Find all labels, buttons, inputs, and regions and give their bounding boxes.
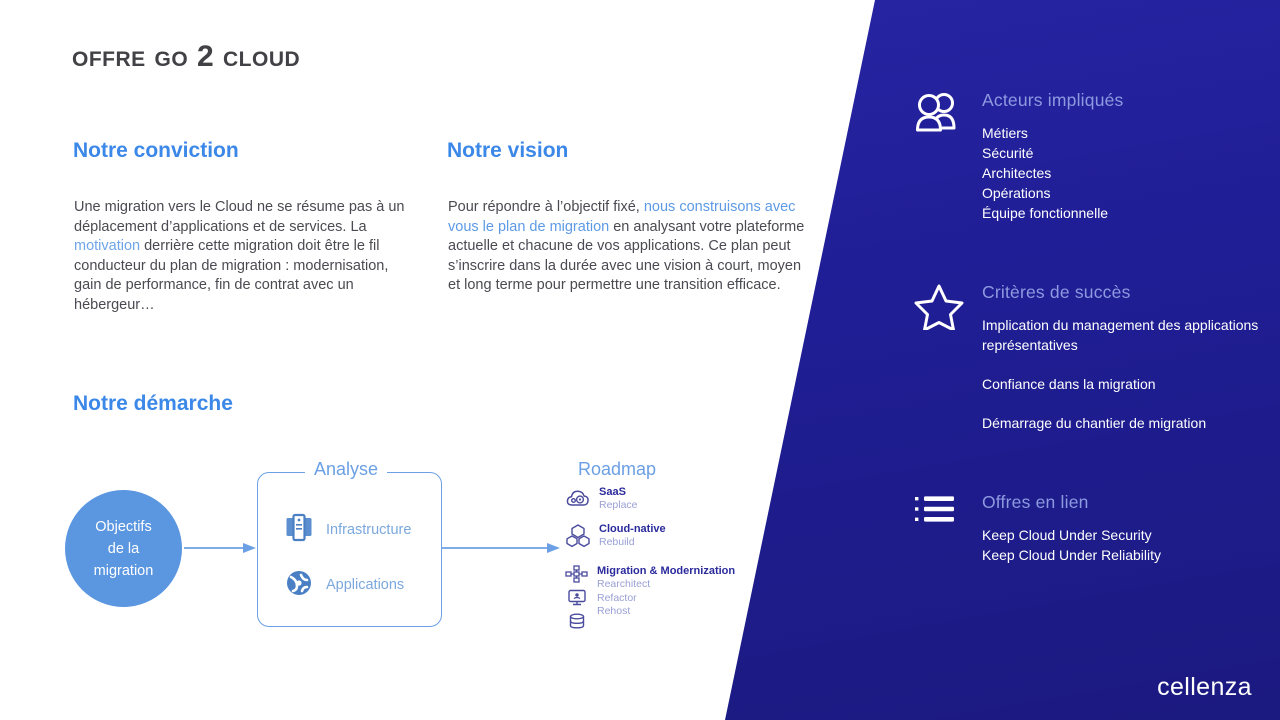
- analyse-box-label: Analyse: [305, 459, 387, 480]
- analyse-row-applications[interactable]: Applications: [285, 568, 404, 602]
- list-item: Confiance dans la migration: [982, 374, 1280, 394]
- star-icon: [913, 282, 965, 335]
- list-item: Keep Cloud Under Reliability: [982, 545, 1161, 565]
- roadmap-group-text: Cloud-native Rebuild: [599, 523, 666, 550]
- panel-block-criteres-de-succes: Critères de succès Implication du manage…: [913, 282, 1280, 433]
- database-icon: [565, 613, 589, 636]
- list-item: Sécurité: [982, 143, 1124, 163]
- list-item: Opérations: [982, 183, 1124, 203]
- roadmap-group-saas[interactable]: SaaS Replace: [565, 486, 638, 513]
- panel-heading-criteres: Critères de succès: [982, 282, 1280, 303]
- people-icon: [913, 90, 965, 139]
- list-item: Métiers: [982, 123, 1124, 143]
- panel-block-offres-en-lien: Offres en lien Keep Cloud Under Security…: [913, 492, 1161, 565]
- list-item: Implication du management des applicatio…: [982, 315, 1280, 355]
- roadmap-group-text: SaaS Replace: [599, 486, 638, 513]
- roadmap-title-cloud-native: Cloud-native: [599, 523, 666, 536]
- panel-text-acteurs: Acteurs impliqués Métiers Sécurité Archi…: [982, 90, 1124, 223]
- panel-list-criteres: Implication du management des applicatio…: [982, 315, 1280, 433]
- panel-block-acteurs-impliques: Acteurs impliqués Métiers Sécurité Archi…: [913, 90, 1124, 223]
- node-objectifs-migration[interactable]: Objectifs de la migration: [65, 490, 182, 607]
- roadmap-sub-replace: Replace: [599, 499, 638, 513]
- servers-icon: [285, 513, 313, 547]
- list-item: Keep Cloud Under Security: [982, 525, 1161, 545]
- node-line-3: migration: [94, 560, 154, 582]
- roadmap-group-text: Migration & Modernization Rearchitect Re…: [597, 565, 735, 619]
- process-diagram: Objectifs de la migration Analyse Infras…: [0, 0, 860, 720]
- roadmap-group-migration-modernization[interactable]: Migration & Modernization Rearchitect Re…: [565, 565, 735, 636]
- monitor-icon: [565, 589, 589, 612]
- roadmap-title-saas: SaaS: [599, 486, 638, 499]
- list-icon: [913, 492, 965, 531]
- roadmap-title-migration-modernization: Migration & Modernization: [597, 565, 735, 578]
- cellenza-logo: cellenza: [1157, 673, 1252, 702]
- roadmap-sub-rebuild: Rebuild: [599, 536, 666, 550]
- roadmap-sub-refactor: Refactor: [597, 592, 735, 606]
- nodes-icon: [565, 565, 589, 588]
- panel-heading-acteurs: Acteurs impliqués: [982, 90, 1124, 111]
- globe-network-icon: [285, 568, 313, 602]
- roadmap-sub-rehost: Rehost: [597, 605, 735, 619]
- analyse-box: [257, 472, 442, 627]
- analyse-row-infrastructure[interactable]: Infrastructure: [285, 513, 411, 547]
- roadmap-sub-rearchitect: Rearchitect: [597, 578, 735, 592]
- roadmap-group-cloud-native[interactable]: Cloud-native Rebuild: [565, 523, 666, 550]
- cubes-icon: [565, 523, 591, 549]
- roadmap-icon-stack: [565, 565, 589, 636]
- analyse-label-applications: Applications: [326, 577, 404, 593]
- panel-heading-offres: Offres en lien: [982, 492, 1161, 513]
- panel-list-acteurs: Métiers Sécurité Architectes Opérations …: [982, 123, 1124, 223]
- analyse-label-infrastructure: Infrastructure: [326, 522, 411, 538]
- list-item: Équipe fonctionnelle: [982, 203, 1124, 223]
- slide-canvas: Offre Go 2 Cloud Notre conviction Une mi…: [0, 0, 1280, 720]
- node-line-2: de la: [108, 538, 139, 560]
- list-item: Démarrage du chantier de migration: [982, 413, 1280, 433]
- panel-text-offres: Offres en lien Keep Cloud Under Security…: [982, 492, 1161, 565]
- panel-list-offres: Keep Cloud Under Security Keep Cloud Und…: [982, 525, 1161, 565]
- panel-text-criteres: Critères de succès Implication du manage…: [982, 282, 1280, 433]
- roadmap-label: Roadmap: [578, 459, 656, 480]
- list-item: Architectes: [982, 163, 1124, 183]
- node-line-1: Objectifs: [95, 516, 151, 538]
- cloud-gear-icon: [565, 486, 591, 510]
